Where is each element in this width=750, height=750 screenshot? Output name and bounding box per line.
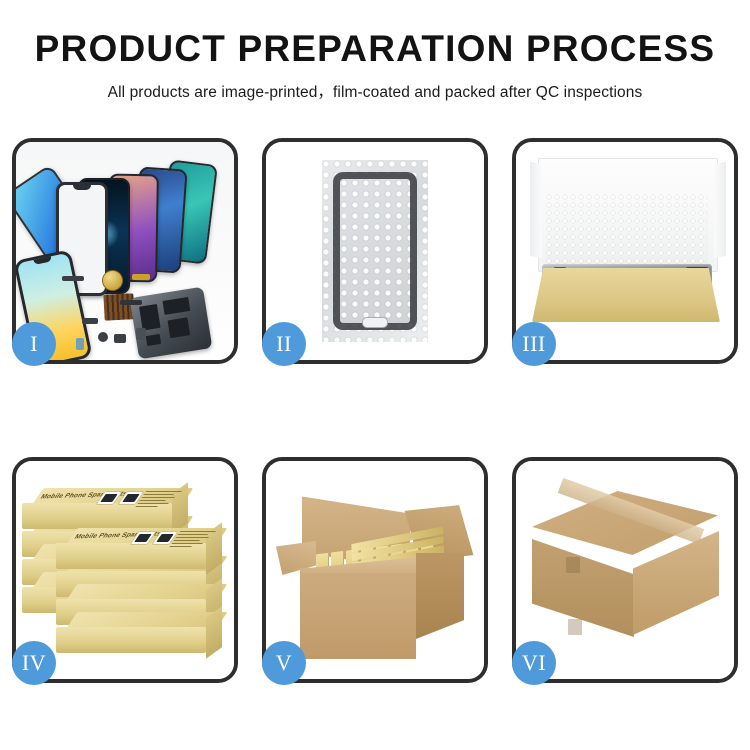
process-step-grid: I II III bbox=[12, 138, 738, 683]
process-step-1: I bbox=[12, 138, 238, 364]
small-part-icon bbox=[98, 332, 108, 342]
retail-box-printed: Mobile Phone Spare Parts bbox=[22, 503, 172, 529]
flex-cable-icon bbox=[132, 274, 150, 280]
bubble-wrap-sheet bbox=[322, 160, 428, 342]
phone-back-pcb-icon bbox=[130, 287, 213, 360]
process-step-3: III bbox=[512, 138, 738, 364]
flex-cable-icon bbox=[136, 328, 146, 340]
step-badge-5: V bbox=[262, 641, 306, 685]
process-step-5: V bbox=[262, 457, 488, 683]
step-badge-6: VI bbox=[512, 641, 556, 685]
chip-array-part-icon bbox=[103, 293, 134, 321]
process-step-4: Mobile Phone Spare Parts Mobile Phone Sp… bbox=[12, 457, 238, 683]
carton-notch-icon bbox=[568, 619, 582, 635]
retail-box-stack: Mobile Phone Spare Parts Mobile Phone Sp… bbox=[22, 475, 234, 675]
inner-box-tray-icon bbox=[532, 268, 720, 322]
carton-side-icon bbox=[416, 553, 464, 639]
step-badge-1: I bbox=[12, 322, 56, 366]
small-part-icon bbox=[76, 338, 84, 350]
gold-coil-part-icon bbox=[102, 270, 123, 291]
step-badge-2: II bbox=[262, 322, 306, 366]
retail-box-printed: Mobile Phone Spare Parts bbox=[56, 543, 206, 569]
retail-box bbox=[56, 627, 206, 653]
header: PRODUCT PREPARATION PROCESS All products… bbox=[0, 0, 750, 102]
carton-front-icon bbox=[300, 573, 416, 659]
carton-front-face-icon bbox=[532, 539, 634, 637]
step-badge-4: IV bbox=[12, 641, 56, 685]
wrapped-screen-icon bbox=[333, 172, 417, 330]
small-part-icon bbox=[114, 334, 126, 343]
carton-notch-icon bbox=[566, 557, 580, 573]
flex-cable-icon bbox=[120, 300, 142, 305]
page-title: PRODUCT PREPARATION PROCESS bbox=[0, 30, 750, 67]
home-button-icon bbox=[362, 317, 388, 328]
step-badge-3: III bbox=[512, 322, 556, 366]
page-subtitle: All products are image-printed，film-coat… bbox=[0, 80, 750, 102]
process-step-6: VI bbox=[512, 457, 738, 683]
small-part-icon bbox=[82, 318, 98, 324]
small-part-icon bbox=[62, 276, 84, 281]
foam-padding-icon bbox=[546, 194, 708, 270]
product-preparation-infographic: PRODUCT PREPARATION PROCESS All products… bbox=[0, 0, 750, 750]
process-step-2: II bbox=[262, 138, 488, 364]
